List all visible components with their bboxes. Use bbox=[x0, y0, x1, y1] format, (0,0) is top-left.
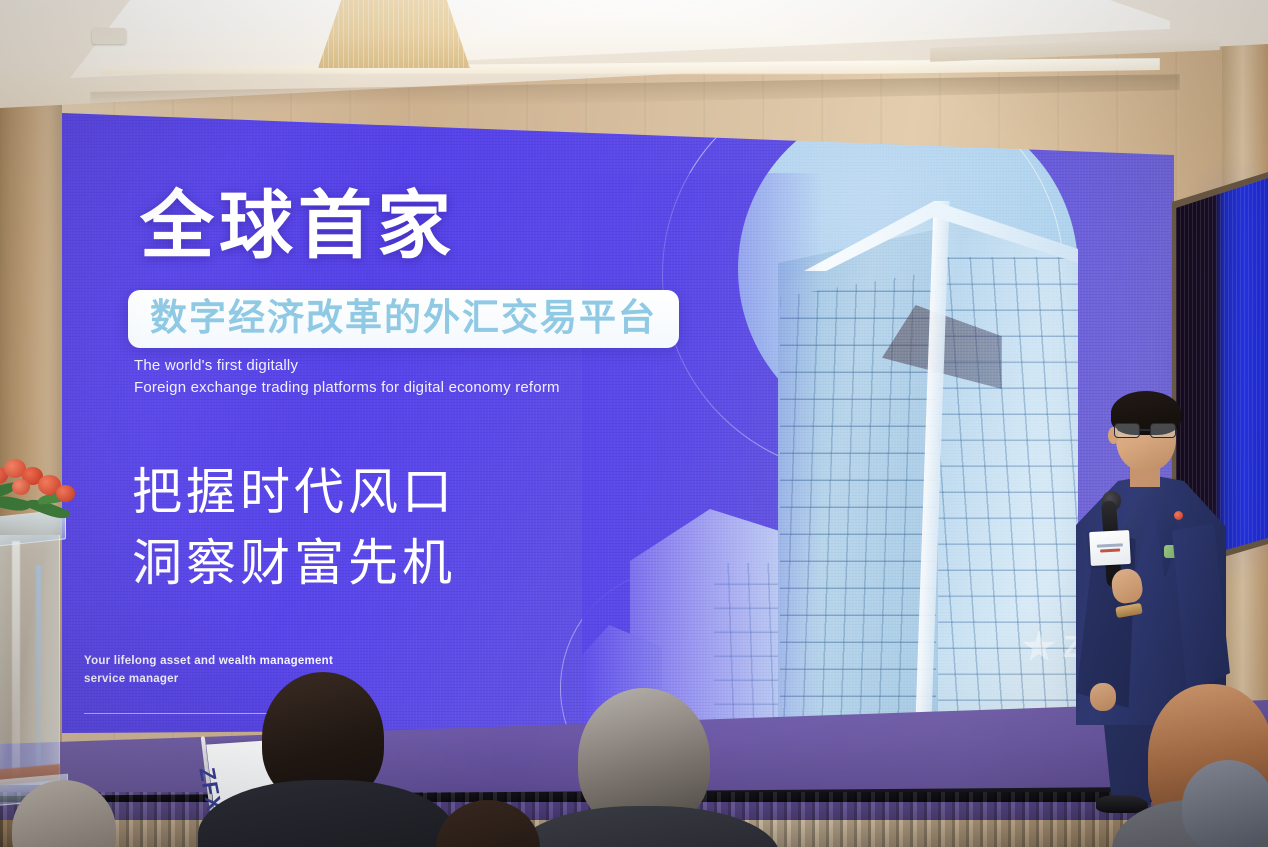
flower-bloom bbox=[12, 479, 30, 495]
slide-pill-text: 数字经济改革的外汇交易平台 bbox=[150, 299, 657, 336]
glasses-lens-left bbox=[1114, 423, 1140, 438]
flower-arrangement bbox=[0, 455, 82, 525]
presenter-lapel-pin bbox=[1174, 511, 1183, 520]
conference-photo-scene: 全球首家 数字经济改革的外汇交易平台 The world's first dig… bbox=[0, 0, 1268, 847]
slide-english-subtitle: The world's first digitally Foreign exch… bbox=[134, 355, 560, 399]
microphone-flag-line bbox=[1100, 548, 1120, 552]
glasses-bridge bbox=[1140, 429, 1150, 431]
slide-subheadline: 把握时代风口 洞察财富先机 bbox=[132, 457, 456, 599]
main-led-screen: 全球首家 数字经济改革的外汇交易平台 The world's first dig… bbox=[62, 113, 1174, 733]
flower-bloom bbox=[56, 485, 75, 502]
pendant-lamp-icon bbox=[318, 0, 470, 68]
ceiling-vent bbox=[92, 28, 126, 44]
lectern-highlight bbox=[12, 541, 20, 779]
slide-pill-badge: 数字经济改革的外汇交易平台 bbox=[128, 290, 679, 348]
slide-text-layer: 全球首家 数字经济改革的外汇交易平台 The world's first dig… bbox=[62, 113, 1174, 733]
audience-head bbox=[1182, 760, 1268, 847]
zfx-star-icon bbox=[1022, 630, 1056, 664]
slide-subheadline-line2: 洞察财富先机 bbox=[132, 528, 456, 599]
pendant-lamp-slats bbox=[318, 0, 470, 68]
lectern-highlight-secondary bbox=[36, 565, 41, 775]
glasses-icon bbox=[1114, 423, 1178, 438]
microphone-flag bbox=[1089, 530, 1131, 566]
lectern-body bbox=[0, 535, 60, 785]
glasses-lens-right bbox=[1150, 423, 1176, 438]
slide-english-line2: Foreign exchange trading platforms for d… bbox=[134, 377, 560, 399]
slide-english-line1: The world's first digitally bbox=[134, 355, 560, 377]
microphone-flag-line bbox=[1097, 543, 1123, 547]
slide-subheadline-line1: 把握时代风口 bbox=[132, 457, 456, 528]
slide-headline: 全球首家 bbox=[140, 189, 456, 263]
slide-footnote-line1: Your lifelong asset and wealth managemen… bbox=[84, 653, 333, 671]
presenter-hand-left bbox=[1090, 683, 1116, 711]
acrylic-lectern bbox=[0, 505, 70, 805]
